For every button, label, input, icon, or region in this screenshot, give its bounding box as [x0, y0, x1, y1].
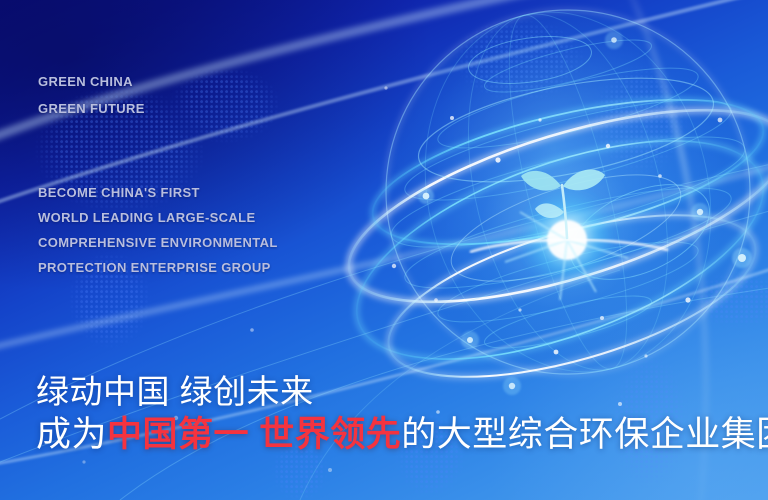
headline-line-2: 成为中国第一 世界领先的大型综合环保企业集团 — [36, 413, 768, 456]
headline-block: 绿动中国 绿创未来 成为中国第一 世界领先的大型综合环保企业集团 — [36, 370, 768, 456]
english-mission-line: WORLD LEADING LARGE-SCALE — [38, 205, 278, 230]
headline-segment-prefix: 成为 — [36, 415, 107, 454]
headline-line-1: 绿动中国 绿创未来 — [36, 370, 768, 413]
english-mission-line: BECOME CHINA'S FIRST — [38, 180, 278, 205]
english-mission-line: PROTECTION ENTERPRISE GROUP — [38, 255, 278, 280]
promo-banner: GREEN CHINA GREEN FUTURE BECOME CHINA'S … — [0, 0, 768, 500]
english-tagline-line: GREEN CHINA — [38, 68, 145, 95]
english-mission-statement: BECOME CHINA'S FIRST WORLD LEADING LARGE… — [38, 180, 278, 280]
headline-segment-accent: 中国第一 世界领先 — [107, 415, 401, 454]
headline-segment-suffix: 的大型综合环保企业集团 — [401, 415, 768, 454]
english-tagline-top: GREEN CHINA GREEN FUTURE — [38, 68, 145, 122]
english-mission-line: COMPREHENSIVE ENVIRONMENTAL — [38, 230, 278, 255]
english-tagline-line: GREEN FUTURE — [38, 95, 145, 122]
